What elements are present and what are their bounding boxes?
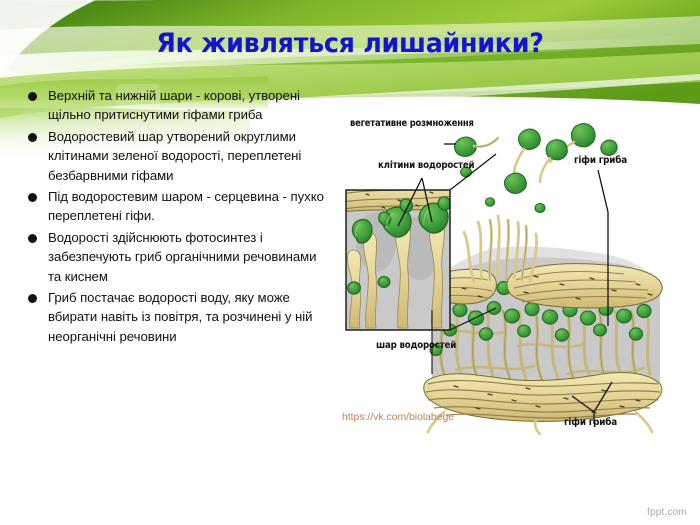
list-item-text: Гриб постачає водорості воду, яку може в… (48, 288, 328, 346)
bullet-list: Верхній та нижній шари - корові, утворен… (22, 86, 328, 348)
source-url-text: https://vk.com/biolabege (342, 412, 454, 423)
bullet-dot-icon (28, 193, 37, 202)
bullet-dot-icon (28, 234, 37, 243)
soredium (601, 140, 617, 155)
soredium (505, 173, 527, 193)
list-item-text: Під водоростевим шаром - серцевина - пух… (48, 187, 328, 226)
list-item-text: Верхній та нижній шари - корові, утворен… (48, 86, 328, 125)
upper-cortex-layer (426, 264, 662, 308)
bullet-dot-icon (28, 294, 37, 303)
lichen-diagram: вегетативне розмноження клітини водорост… (336, 112, 670, 438)
bullet-dot-icon (28, 133, 37, 142)
list-item-text: Водорості здійснюють фотосинтез і забезп… (48, 228, 328, 286)
diagram-label-algae-layer: шар водоростей (376, 340, 456, 351)
diagram-label-fungal-hyphae-bottom: гіфи гриба (564, 417, 617, 428)
list-item: Водорості здійснюють фотосинтез і забезп… (22, 228, 328, 286)
list-item: Верхній та нижній шари - корові, утворен… (22, 86, 328, 125)
bullet-dot-icon (28, 92, 37, 101)
list-item: Гриб постачає водорості воду, яку може в… (22, 288, 328, 346)
list-item: Під водоростевим шаром - серцевина - пух… (22, 187, 328, 226)
diagram-label-algae-cells: клітини водоростей (378, 160, 474, 171)
diagram-label-vegetative-reproduction: вегетативне розмноження (350, 118, 474, 129)
footer-watermark: fppt.com (647, 507, 687, 518)
slide-canvas: Як живляться лишайники? Верхній та нижні… (0, 0, 700, 525)
list-item-text: Водоростевий шар утворений округлими клі… (48, 127, 328, 185)
diagram-label-fungal-hyphae-top: гіфи гриба (574, 155, 627, 166)
list-item: Водоростевий шар утворений округлими клі… (22, 127, 328, 185)
